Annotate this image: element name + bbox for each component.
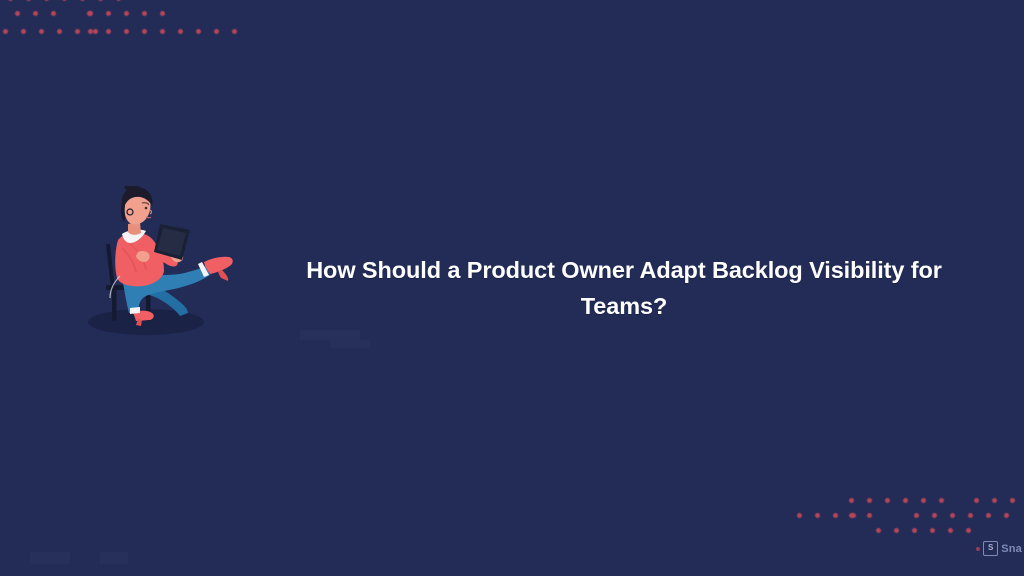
dot <box>894 528 899 533</box>
dot <box>142 29 147 34</box>
dot-row <box>849 498 957 503</box>
dot <box>968 513 973 518</box>
dot <box>88 11 93 16</box>
watermark-label: Sna <box>1001 543 1022 555</box>
dot <box>51 11 56 16</box>
dot <box>44 0 49 1</box>
snagit-watermark: S Sna <box>976 541 1022 556</box>
dot <box>214 29 219 34</box>
dot <box>851 513 856 518</box>
dot <box>867 498 872 503</box>
dot <box>106 29 111 34</box>
dot <box>160 29 165 34</box>
decorative-dot-cluster-top-left <box>0 0 260 48</box>
dot <box>87 11 92 16</box>
dot <box>974 498 979 503</box>
dot <box>912 528 917 533</box>
background-artifact <box>330 340 370 348</box>
dot <box>80 0 85 1</box>
dot <box>33 11 38 16</box>
dot <box>885 498 890 503</box>
dot-row <box>3 29 111 34</box>
sock-lower <box>130 307 140 314</box>
dot <box>142 11 147 16</box>
dot <box>950 513 955 518</box>
dot-row <box>876 528 984 533</box>
background-artifact <box>300 330 360 340</box>
snagit-logo-icon: S <box>983 541 998 556</box>
dot <box>39 29 44 34</box>
dot-row <box>914 513 1022 518</box>
dot <box>178 29 183 34</box>
dot <box>75 29 80 34</box>
dot <box>1004 513 1009 518</box>
dot <box>1010 498 1015 503</box>
eye <box>145 207 148 210</box>
dot <box>833 513 838 518</box>
dot-row <box>88 11 178 16</box>
dot <box>930 528 935 533</box>
dot <box>106 11 111 16</box>
dot <box>849 498 854 503</box>
dot <box>797 513 802 518</box>
dot <box>966 528 971 533</box>
illustration-woman-sitting-with-tablet <box>84 186 268 346</box>
dot <box>948 528 953 533</box>
dot <box>914 513 919 518</box>
dot-row <box>849 513 885 518</box>
mouth <box>146 217 151 218</box>
dot <box>903 498 908 503</box>
dot <box>932 513 937 518</box>
dot <box>196 29 201 34</box>
dot-row <box>797 513 869 518</box>
dot <box>93 29 98 34</box>
dot-row <box>15 11 105 16</box>
dot <box>98 0 103 1</box>
dot-row <box>0 0 134 1</box>
dot <box>124 29 129 34</box>
dot <box>62 0 67 1</box>
dot <box>992 498 997 503</box>
decorative-dot-cluster-bottom-right <box>784 490 1024 576</box>
dot <box>849 513 854 518</box>
slide-canvas: How Should a Product Owner Adapt Backlog… <box>0 0 1024 576</box>
dot <box>867 513 872 518</box>
dot <box>26 0 31 1</box>
dot <box>3 29 8 34</box>
dot-row <box>88 29 250 34</box>
dot <box>15 11 20 16</box>
background-artifact <box>100 552 128 564</box>
chair-leg-front <box>112 289 117 321</box>
page-title: How Should a Product Owner Adapt Backlog… <box>268 252 980 324</box>
background-artifact <box>30 552 70 564</box>
dot <box>986 513 991 518</box>
dot <box>124 11 129 16</box>
dot <box>160 11 165 16</box>
shoe-upper-heel <box>218 270 228 281</box>
dot <box>232 29 237 34</box>
dot <box>939 498 944 503</box>
nose <box>150 210 152 214</box>
dot <box>21 29 26 34</box>
dot <box>116 0 121 1</box>
dot <box>57 29 62 34</box>
dot <box>876 528 881 533</box>
watermark-dot <box>976 547 980 551</box>
dot <box>815 513 820 518</box>
dot-row <box>974 498 1024 503</box>
hair-side <box>121 204 125 222</box>
dot <box>88 29 93 34</box>
dot <box>8 0 13 1</box>
dot <box>921 498 926 503</box>
